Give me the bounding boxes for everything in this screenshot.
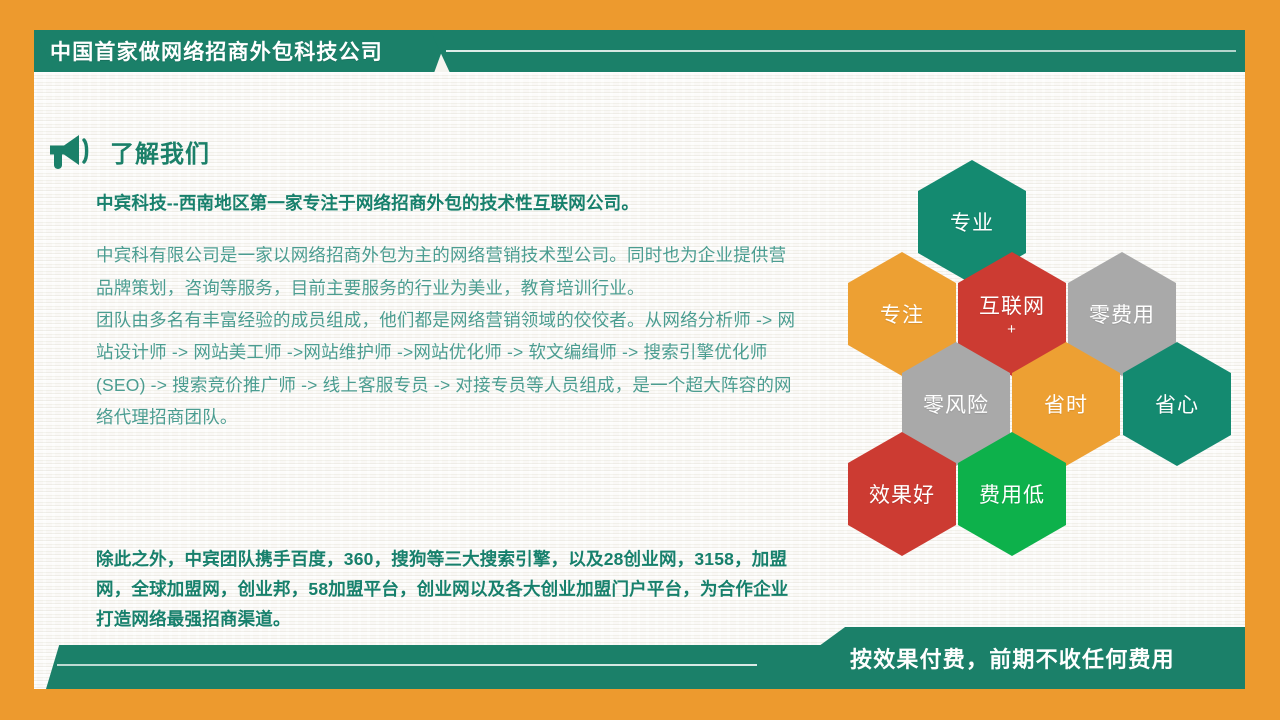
- hexagon-label: 省时: [1044, 389, 1088, 419]
- hexagon-label: 互联网: [979, 290, 1045, 320]
- slide-root: 中国首家做网络招商外包科技公司 了解我们 中宾科技--西南地区第一家专注于网络招…: [0, 0, 1280, 720]
- footer-tagline: 按效果付费，前期不收任何费用: [850, 627, 1230, 689]
- hexagon-label: 效果好: [869, 479, 935, 509]
- header-hairline-rule: [446, 50, 1236, 52]
- hexagon-label: 专业: [950, 207, 994, 237]
- hexagon-label: 费用低: [979, 479, 1045, 509]
- megaphone-icon: [46, 132, 94, 170]
- footer-hairline-rule: [57, 664, 757, 666]
- closing-paragraph: 除此之外，中宾团队携手百度，360，搜狗等三大搜索引擎，以及28创业网，3158…: [96, 544, 796, 634]
- lead-paragraph: 中宾科技--西南地区第一家专注于网络招商外包的技术性互联网公司。: [96, 190, 796, 217]
- section-heading: 了解我们: [46, 132, 210, 170]
- section-title: 了解我们: [110, 134, 210, 169]
- hexagon-label: 零费用: [1089, 299, 1155, 329]
- hexagon-label: 省心: [1155, 389, 1199, 419]
- hexagon-label: 专注: [880, 299, 924, 329]
- hexagon-label: 零风险: [923, 389, 989, 419]
- page-title: 中国首家做网络招商外包科技公司: [50, 30, 383, 72]
- benefits-hexagon-cluster: 专业专注互联网+零费用零风险省时省心效果好费用低: [830, 160, 1245, 545]
- hexagon-sublabel: +: [1007, 322, 1017, 339]
- about-body: 中宾科技--西南地区第一家专注于网络招商外包的技术性互联网公司。 中宾科有限公司…: [96, 190, 796, 433]
- paragraph-two: 团队由多名有丰富经验的成员组成，他们都是网络营销领域的佼佼者。从网络分析师 ->…: [96, 304, 796, 434]
- paragraph-one: 中宾科有限公司是一家以网络招商外包为主的网络营销技术型公司。同时也为企业提供营品…: [96, 239, 796, 304]
